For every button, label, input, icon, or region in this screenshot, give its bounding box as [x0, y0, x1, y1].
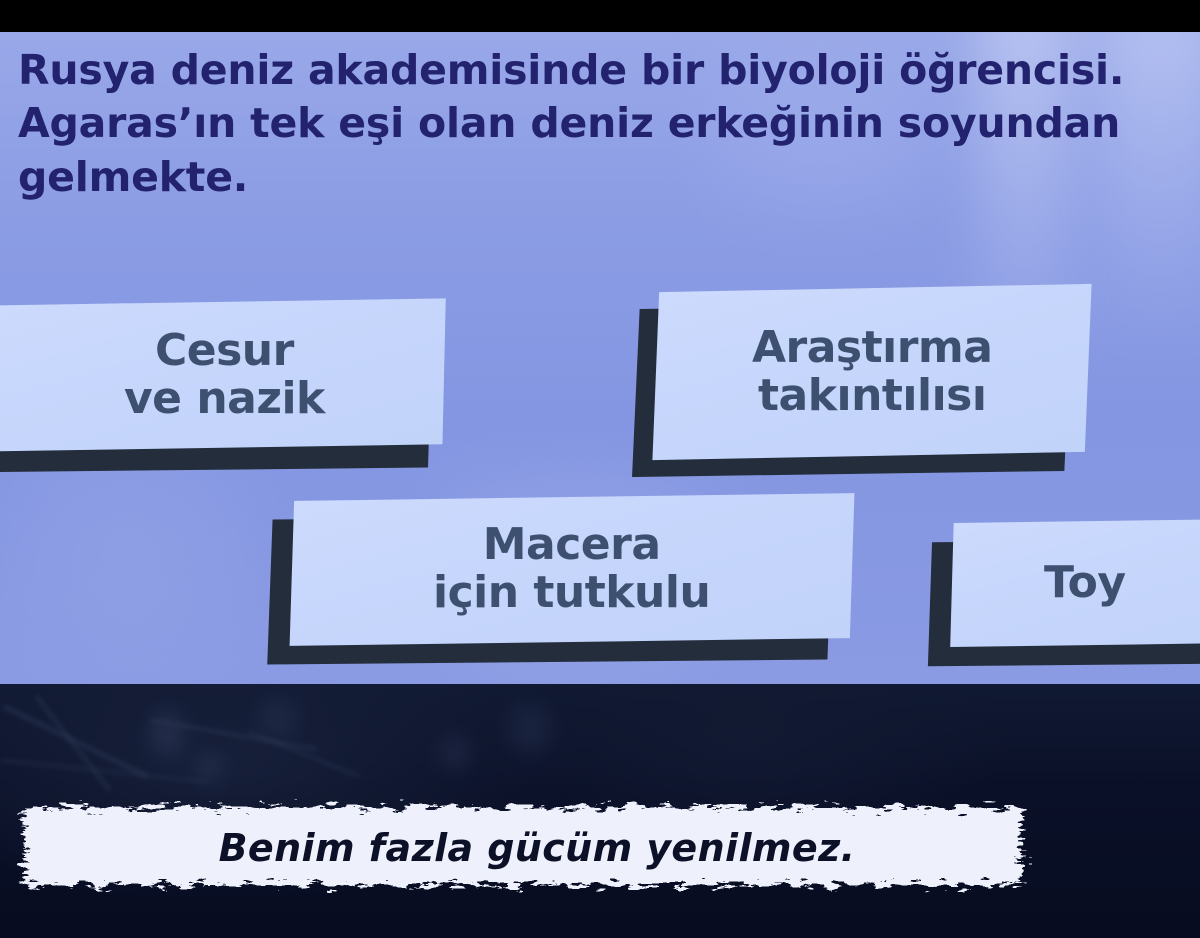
trait-card-label: Araştırma takıntılısı	[752, 324, 993, 421]
trait-card-label: Cesur ve nazik	[94, 327, 325, 424]
subtitle-text: Benim fazla gücüm yenilmez.	[8, 795, 1038, 900]
trait-card-label: Toy	[1044, 559, 1152, 607]
trait-card-face: Macera için tutkulu	[290, 493, 855, 646]
trait-card-arastirma-takintilisi[interactable]: Araştırma takıntılısı	[656, 288, 1088, 456]
bokeh-light	[150, 710, 184, 756]
video-frame: Rusya deniz akademisinde bir biyoloji öğ…	[0, 0, 1200, 938]
trait-card-face: Cesur ve nazik	[0, 298, 446, 451]
trait-card-toy[interactable]: Toy	[952, 521, 1200, 645]
trait-card-label: Macera için tutkulu	[433, 521, 710, 618]
trait-card-macera-icin-tutkulu[interactable]: Macera için tutkulu	[292, 497, 852, 642]
blurred-branch	[34, 695, 111, 792]
trait-card-cesur-ve-nazik[interactable]: Cesur ve nazik	[0, 302, 444, 448]
bokeh-light	[440, 736, 470, 770]
character-description: Rusya deniz akademisinde bir biyoloji öğ…	[18, 44, 1188, 204]
blurred-branch	[247, 730, 359, 778]
bokeh-light	[508, 704, 552, 754]
bokeh-light	[258, 698, 298, 738]
trait-card-face: Toy	[950, 519, 1200, 647]
subtitle-banner: Benim fazla gücüm yenilmez.	[8, 795, 1038, 900]
letterbox-top-bar-main	[0, 0, 975, 32]
trait-card-face: Araştırma takıntılısı	[652, 284, 1091, 460]
